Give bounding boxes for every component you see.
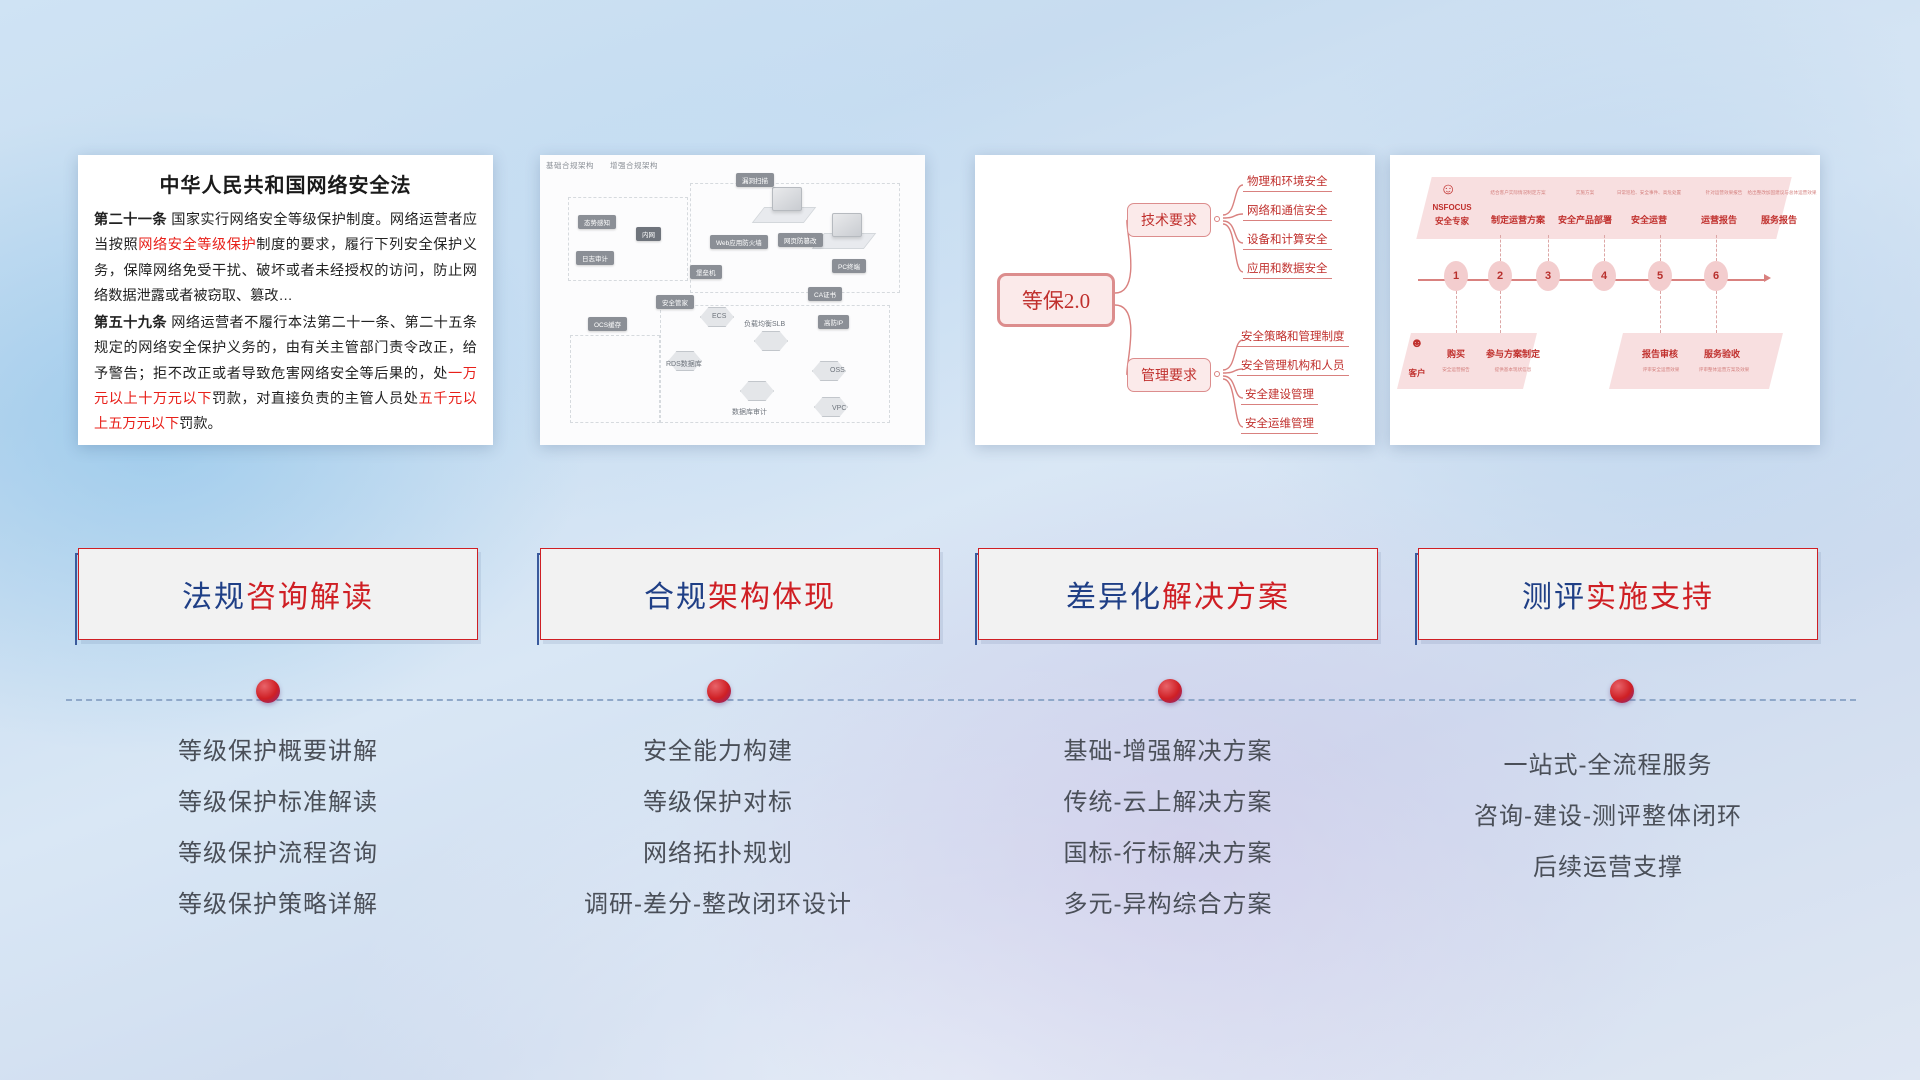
list-item: 等级保护概要讲解 xyxy=(68,740,488,764)
top-step-label-2: 安全运营 xyxy=(1612,213,1686,226)
mindmap-leaf-mgmt-2: 安全建设管理 xyxy=(1241,386,1318,405)
arch-zone-db xyxy=(570,335,660,423)
arch-head-enhanced: 增强合规架构 xyxy=(610,161,658,170)
card-service-process: ☺ NSFOCUS 安全专家 结合客户实际情况制定方案 制定运营方案 实施方案 … xyxy=(1390,155,1820,445)
timeline-dot-1[interactable] xyxy=(256,679,280,703)
arch-node-2 xyxy=(832,213,862,237)
top-step-sub-4: 给出整改加固建议与总体运营效果 xyxy=(1734,190,1820,196)
headline-text-3: 差异化解决方案 xyxy=(1066,572,1290,616)
process-connector-3 xyxy=(1548,235,1549,261)
arch-chip-0: 内网 xyxy=(636,227,661,241)
bullet-column-4: 一站式-全流程服务 咨询-建设-测评整体闭环 后续运营支撑 xyxy=(1398,754,1818,907)
timeline-dot-4[interactable] xyxy=(1610,679,1634,703)
list-item: 基础-增强解决方案 xyxy=(958,740,1378,764)
card-compliance-architecture: 基础合规架构增强合规架构 内网 日志审计 态势感知 堡垒机 安全管家 漏洞扫描 … xyxy=(540,155,925,445)
arch-label-oss: OSS xyxy=(824,365,851,376)
headline-4-red: 实施支持 xyxy=(1586,581,1714,614)
process-node-3[interactable]: 3 xyxy=(1536,261,1560,291)
headline-text-2: 合规架构体现 xyxy=(644,572,836,616)
bottom-step-label-3: 服务验收 xyxy=(1696,347,1748,360)
mindmap-leaf-mgmt-1: 安全管理机构和人员 xyxy=(1237,357,1349,376)
article-59-text-b: 罚款，对直接负责的主管人员处 xyxy=(212,391,419,407)
headline-box-1[interactable]: 法规咨询解读 xyxy=(78,548,478,640)
process-node-1[interactable]: 1 xyxy=(1444,261,1468,291)
arch-chip-1: 日志审计 xyxy=(576,251,614,265)
process-node-2[interactable]: 2 xyxy=(1488,261,1512,291)
mindmap-leaf-tech-1: 网络和通信安全 xyxy=(1243,202,1332,221)
mindmap-branch-management: 管理要求 xyxy=(1127,358,1211,392)
arch-chip-9: CA证书 xyxy=(808,287,842,301)
bottom-step-sub-0: 安全运营报告 xyxy=(1430,367,1482,373)
arch-chip-2: 态势感知 xyxy=(578,215,616,229)
mindmap-root-node: 等保2.0 xyxy=(997,273,1115,327)
arch-label-audit: 数据库审计 xyxy=(726,405,773,419)
arch-chip-11: OCS缓存 xyxy=(588,317,627,331)
expert-person-icon: ☺ xyxy=(1440,181,1456,199)
headline-box-4[interactable]: 测评实施支持 xyxy=(1418,548,1818,640)
headline-3-blue: 差异化 xyxy=(1066,581,1162,614)
process-node-5[interactable]: 5 xyxy=(1648,261,1672,291)
process-node-4[interactable]: 4 xyxy=(1592,261,1616,291)
list-item: 网络拓扑规划 xyxy=(508,842,928,866)
card-mindmap-dengbao: 等保2.0 技术要求 物理和环境安全 网络和通信安全 设备和计算安全 应用和数据… xyxy=(975,155,1375,445)
list-item: 国标-行标解决方案 xyxy=(958,842,1378,866)
arch-chip-7: PC终端 xyxy=(832,259,866,273)
customer-role-label: 客户 xyxy=(1400,367,1434,379)
process-axis-arrow-icon xyxy=(1764,274,1771,282)
arch-chip-4: 安全管家 xyxy=(656,295,694,309)
bottom-step-label-1: 参与方案制定 xyxy=(1478,347,1548,360)
list-item: 传统-云上解决方案 xyxy=(958,791,1378,815)
process-connector-5 xyxy=(1660,235,1661,261)
list-item: 等级保护策略详解 xyxy=(68,893,488,917)
process-connector-2 xyxy=(1500,235,1501,261)
mindmap-leaf-mgmt-3: 安全运维管理 xyxy=(1241,415,1318,434)
mindmap-leaf-mgmt-0: 安全策略和管理制度 xyxy=(1237,328,1349,347)
arch-label-slb: 负载均衡SLB xyxy=(738,317,791,331)
expert-role-line1: NSFOCUS xyxy=(1424,203,1480,212)
process-connector-b2 xyxy=(1500,291,1501,333)
headline-3-red: 解决方案 xyxy=(1162,581,1290,614)
mindmap-expand-dot-management[interactable] xyxy=(1214,371,1220,377)
law-title: 中华人民共和国网络安全法 xyxy=(94,169,477,198)
headline-2-red: 架构体现 xyxy=(708,581,836,614)
article-21-highlight: 网络安全等级保护 xyxy=(138,237,256,253)
timeline-dot-2[interactable] xyxy=(707,679,731,703)
arch-zone-left xyxy=(568,197,688,281)
timeline-dot-3[interactable] xyxy=(1158,679,1182,703)
headline-row: 法规咨询解读 合规架构体现 差异化解决方案 测评实施支持 xyxy=(0,548,1920,648)
list-item: 一站式-全流程服务 xyxy=(1398,754,1818,778)
process-connector-6 xyxy=(1716,235,1717,261)
arch-chip-5: 漏洞扫描 xyxy=(736,173,774,187)
top-step-sub-2: 日常巡检、安全事件、高危处置 xyxy=(1604,190,1694,196)
headline-2-blue: 合规 xyxy=(644,581,708,614)
list-item: 调研-差分-整改闭环设计 xyxy=(508,893,928,917)
process-connector-4 xyxy=(1604,235,1605,261)
architecture-headings: 基础合规架构增强合规架构 xyxy=(546,160,674,171)
top-step-label-1: 安全产品部署 xyxy=(1548,213,1622,226)
mindmap-leaf-tech-2: 设备和计算安全 xyxy=(1243,231,1332,250)
list-item: 等级保护标准解读 xyxy=(68,791,488,815)
article-59-label: 第五十九条 xyxy=(94,315,167,331)
arch-label-rds: RDS数据库 xyxy=(660,357,708,371)
arch-chip-6: 网页防篡改 xyxy=(778,233,823,247)
process-node-6[interactable]: 6 xyxy=(1704,261,1728,291)
headline-4-blue: 测评 xyxy=(1522,581,1586,614)
card-cybersecurity-law: 中华人民共和国网络安全法 第二十一条 国家实行网络安全等级保护制度。网络运营者应… xyxy=(78,155,493,445)
headline-box-2[interactable]: 合规架构体现 xyxy=(540,548,940,640)
headline-box-3[interactable]: 差异化解决方案 xyxy=(978,548,1378,640)
mindmap-leaf-tech-3: 应用和数据安全 xyxy=(1243,260,1332,279)
headline-text-1: 法规咨询解读 xyxy=(182,572,374,616)
process-connector-b1 xyxy=(1456,291,1457,333)
list-item: 后续运营支撑 xyxy=(1398,856,1818,880)
arch-node-1 xyxy=(772,187,802,211)
headline-text-4: 测评实施支持 xyxy=(1522,572,1714,616)
bottom-step-label-2: 报告审核 xyxy=(1634,347,1686,360)
list-item: 安全能力构建 xyxy=(508,740,928,764)
mindmap-branch-technical: 技术要求 xyxy=(1127,203,1211,237)
top-step-sub-0: 结合客户实际情况制定方案 xyxy=(1478,190,1558,196)
architecture-diagram: 基础合规架构增强合规架构 内网 日志审计 态势感知 堡垒机 安全管家 漏洞扫描 … xyxy=(540,155,925,445)
top-step-label-4: 服务报告 xyxy=(1742,213,1816,226)
bottom-step-label-0: 购买 xyxy=(1434,347,1478,360)
list-item: 多元-异构综合方案 xyxy=(958,893,1378,917)
expert-role-line2: 安全专家 xyxy=(1424,215,1480,227)
timeline-dashed-line xyxy=(66,699,1856,701)
process-connector-b5 xyxy=(1660,291,1661,333)
list-item: 等级保护对标 xyxy=(508,791,928,815)
arch-label-ecs: ECS xyxy=(706,311,732,322)
law-article-21: 第二十一条 国家实行网络安全等级保护制度。网络运营者应当按照网络安全等级保护制度… xyxy=(94,208,477,309)
arch-chip-8: Web应用防火墙 xyxy=(710,235,768,249)
arch-label-vpc: VPC xyxy=(826,403,852,414)
mindmap-diagram: 等保2.0 技术要求 物理和环境安全 网络和通信安全 设备和计算安全 应用和数据… xyxy=(975,155,1375,445)
arch-chip-3: 堡垒机 xyxy=(690,265,722,279)
timeline-axis xyxy=(0,690,1920,730)
process-band-customer-right xyxy=(1609,333,1783,389)
mindmap-expand-dot-technical[interactable] xyxy=(1214,216,1220,222)
headline-1-red: 咨询解读 xyxy=(246,581,374,614)
process-diagram: ☺ NSFOCUS 安全专家 结合客户实际情况制定方案 制定运营方案 实施方案 … xyxy=(1390,155,1820,445)
top-step-label-0: 制定运营方案 xyxy=(1478,213,1558,226)
article-59-text-c: 罚款。 xyxy=(179,416,222,432)
article-21-label: 第二十一条 xyxy=(94,212,167,228)
bullet-column-3: 基础-增强解决方案 传统-云上解决方案 国标-行标解决方案 多元-异构综合方案 xyxy=(958,740,1378,944)
arch-head-basic: 基础合规架构 xyxy=(546,161,594,170)
bottom-step-sub-1: 提供基本现状信息 xyxy=(1478,367,1548,373)
bullet-column-2: 安全能力构建 等级保护对标 网络拓扑规划 调研-差分-整改闭环设计 xyxy=(508,740,928,944)
bullet-column-1: 等级保护概要讲解 等级保护标准解读 等级保护流程咨询 等级保护策略详解 xyxy=(68,740,488,944)
slide-canvas: 中华人民共和国网络安全法 第二十一条 国家实行网络安全等级保护制度。网络运营者应… xyxy=(0,0,1920,1080)
process-connector-b6 xyxy=(1716,291,1717,333)
customer-person-icon: ☻ xyxy=(1410,335,1424,350)
image-card-row: 中华人民共和国网络安全法 第二十一条 国家实行网络安全等级保护制度。网络运营者应… xyxy=(0,0,1920,470)
law-content: 中华人民共和国网络安全法 第二十一条 国家实行网络安全等级保护制度。网络运营者应… xyxy=(78,155,493,445)
list-item: 等级保护流程咨询 xyxy=(68,842,488,866)
headline-1-blue: 法规 xyxy=(182,581,246,614)
mindmap-leaf-tech-0: 物理和环境安全 xyxy=(1243,173,1332,192)
list-item: 咨询-建设-测评整体闭环 xyxy=(1398,805,1818,829)
law-article-59: 第五十九条 网络运营者不履行本法第二十一条、第二十五条规定的网络安全保护义务的，… xyxy=(94,311,477,437)
bottom-step-sub-3: 评审整体运营方案及效果 xyxy=(1686,367,1762,373)
arch-chip-10: 高防IP xyxy=(818,315,849,329)
